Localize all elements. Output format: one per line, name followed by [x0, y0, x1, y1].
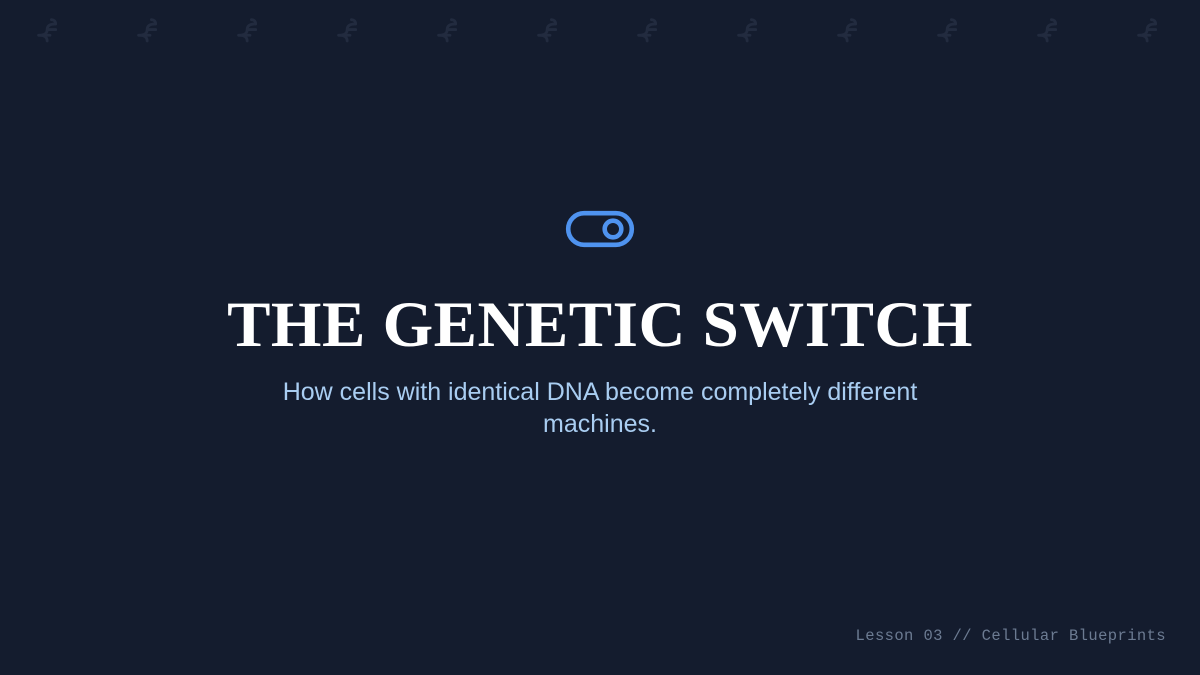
page-subtitle: How cells with identical DNA become comp… [250, 376, 950, 440]
hero-content: THE GENETIC SWITCH How cells with identi… [0, 0, 1200, 675]
toggle-switch-icon [564, 205, 636, 253]
footer-lesson-note: Lesson 03 // Cellular Blueprints [856, 627, 1166, 645]
page-title: THE GENETIC SWITCH [227, 291, 973, 359]
slide-root: THE GENETIC SWITCH How cells with identi… [0, 0, 1200, 675]
